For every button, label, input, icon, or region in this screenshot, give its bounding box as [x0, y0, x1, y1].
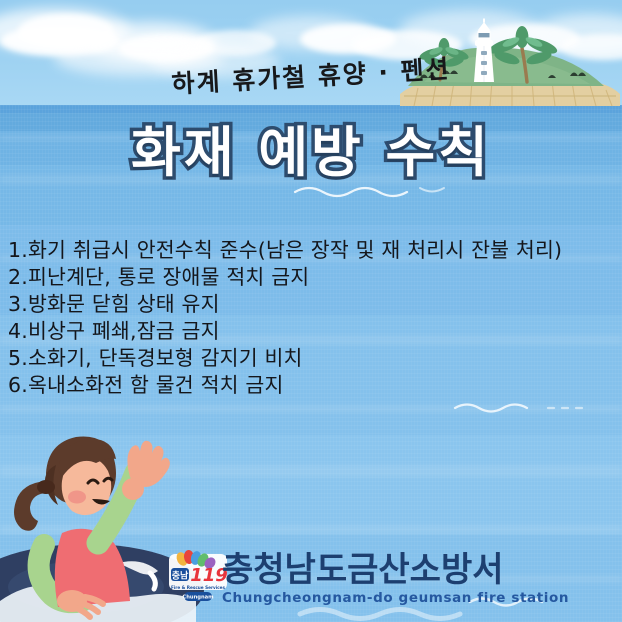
rule-item: 1.화기 취급시 안전수칙 준수(남은 장작 및 재 처리시 잔불 처리) [8, 237, 620, 264]
rule-item: 3.방화문 닫힘 상태 유지 [8, 291, 620, 318]
fire-safety-poster: 하계 휴가철 휴양 · 펜션 화재 예방 수칙 1.화기 취급시 안전수칙 준수… [0, 0, 622, 622]
poster-title: 화재 예방 수칙 [0, 108, 622, 187]
fire-safety-rules-list: 1.화기 취급시 안전수칙 준수(남은 장작 및 재 처리시 잔불 처리) 2.… [8, 237, 620, 399]
rule-item: 6.옥내소화전 함 물건 적치 금지 [8, 372, 620, 399]
sea-band [0, 405, 622, 413]
chungnam-119-logo: 충남 119 Fire & Rescue Services Chungnam [168, 549, 228, 605]
footer-org-korean: 충청남도금산소방서 [222, 553, 569, 587]
footer-org-english: Chungcheongnam-do geumsan fire station [222, 592, 569, 606]
rule-item: 4.비상구 폐쇄,잠금 금지 [8, 318, 620, 345]
logo-tagline-region: Chungnam [182, 594, 213, 600]
rule-item: 5.소화기, 단독경보형 감지기 비치 [8, 345, 620, 372]
logo-tagline-en: Fire & Rescue Services [171, 585, 225, 590]
rule-item: 2.피난계단, 통로 장애물 적치 금지 [8, 264, 620, 291]
logo-region-label: 충남 [172, 570, 189, 582]
footer-organization: 충청남도금산소방서 Chungcheongnam-do geumsan fire… [222, 553, 569, 606]
